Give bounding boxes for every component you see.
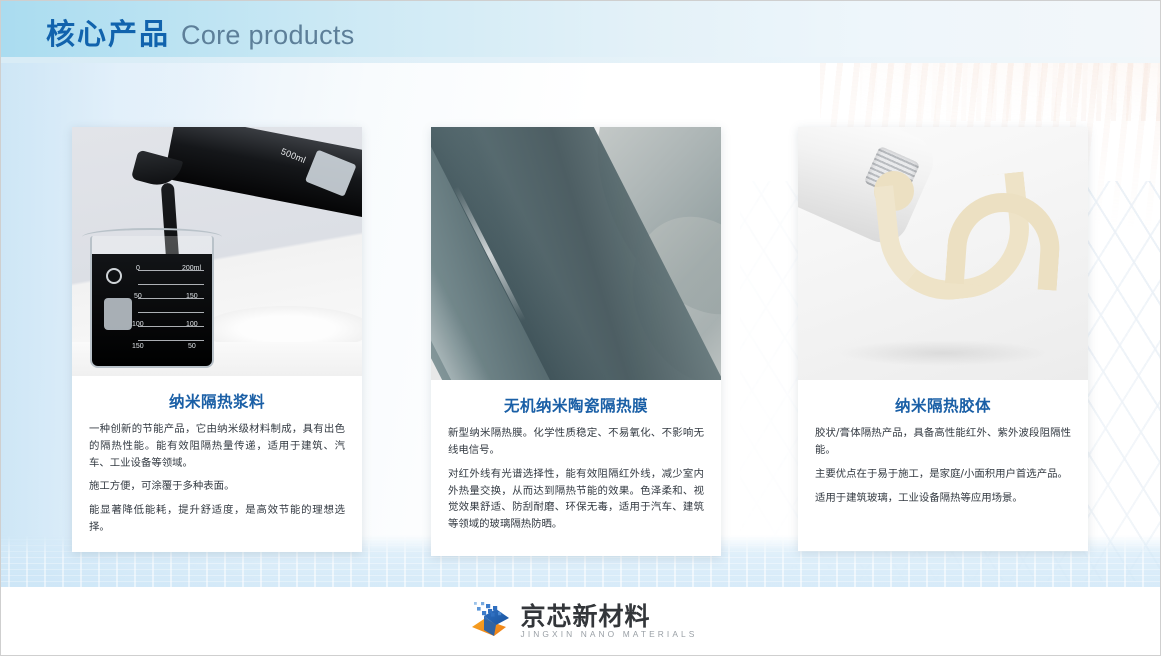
slide: 核心产品 Core products 500ml: [0, 0, 1161, 656]
card-paragraph: 胶状/膏体隔热产品，具备高性能红外、紫外波段阻隔性能。: [815, 425, 1071, 459]
logo-company-name-cn: 京芯新材料: [521, 604, 698, 629]
product-card-ceramic-film[interactable]: 无机纳米陶瓷隔热膜 新型纳米隔热膜。化学性质稳定、不易氧化、不影响无线电信号。 …: [431, 127, 721, 556]
card-body-slurry: 纳米隔热浆料 一种创新的节能产品，它由纳米级材料制成，具有出色的隔热性能。能有效…: [72, 376, 362, 552]
photo-beaker-white-patch: [104, 298, 132, 330]
product-photo-colloid: [798, 127, 1088, 380]
header-title-group: 核心产品 Core products: [1, 11, 355, 53]
card-title-film: 无机纳米陶瓷隔热膜: [448, 394, 704, 416]
card-paragraph: 新型纳米隔热膜。化学性质稳定、不易氧化、不影响无线电信号。: [448, 425, 704, 459]
page-title-cn: 核心产品: [46, 11, 170, 53]
card-paragraph: 主要优点在于易于施工，是家庭/小面积用户首选产品。: [815, 466, 1071, 483]
product-card-list: 500ml 0 200ml 50 150 100: [1, 63, 1161, 589]
photo-bottle: 500ml: [164, 127, 362, 218]
logo-company-name-en: JINGXIN NANO MATERIALS: [521, 630, 698, 638]
product-photo-slurry: 500ml 0 200ml 50 150 100: [72, 127, 362, 376]
card-paragraph: 一种创新的节能产品，它由纳米级材料制成，具有出色的隔热性能。能有效阻隔热量传递，…: [89, 421, 345, 472]
product-card-nano-insulation-slurry[interactable]: 500ml 0 200ml 50 150 100: [72, 127, 362, 552]
product-card-colloid[interactable]: 纳米隔热胶体 胶状/膏体隔热产品，具备高性能红外、紫外波段阻隔性能。 主要优点在…: [798, 127, 1088, 551]
slide-footer: 京芯新材料 JINGXIN NANO MATERIALS: [1, 587, 1161, 655]
company-logo: 京芯新材料 JINGXIN NANO MATERIALS: [466, 600, 698, 642]
photo-beaker-logo-icon: [106, 268, 122, 284]
card-paragraph: 能显著降低能耗，提升舒适度，是高效节能的理想选择。: [89, 502, 345, 536]
product-photo-film: [431, 127, 721, 380]
card-paragraph: 适用于建筑玻璃，工业设备隔热等应用场景。: [815, 490, 1071, 507]
card-paragraph: 对红外线有光谱选择性，能有效阻隔红外线，减少室内外热量交换，从而达到隔热节能的效…: [448, 466, 704, 533]
photo-drop-shadow: [838, 340, 1048, 366]
photo-beaker: 0 200ml 50 150 100 100 150 50: [90, 236, 214, 368]
photo-bottle-label: [305, 150, 357, 197]
slide-header: 核心产品 Core products: [1, 1, 1161, 63]
logo-svg: [466, 600, 510, 642]
card-title-slurry: 纳米隔热浆料: [89, 390, 345, 412]
jingxin-logo-icon: [466, 600, 510, 642]
photo-beaker-rim: [82, 228, 222, 237]
page-title-en: Core products: [181, 20, 354, 51]
card-body-film: 无机纳米陶瓷隔热膜 新型纳米隔热膜。化学性质稳定、不易氧化、不影响无线电信号。 …: [431, 380, 721, 549]
photo-beaker-scale: 0 200ml 50 150 100 100 150 50: [138, 264, 204, 352]
card-title-colloid: 纳米隔热胶体: [815, 394, 1071, 416]
photo-bottle-volume-text: 500ml: [279, 146, 307, 165]
logo-text-block: 京芯新材料 JINGXIN NANO MATERIALS: [521, 604, 698, 638]
card-paragraph: 施工方便，可涂覆于多种表面。: [89, 478, 345, 495]
card-body-colloid: 纳米隔热胶体 胶状/膏体隔热产品，具备高性能红外、紫外波段阻隔性能。 主要优点在…: [798, 380, 1088, 522]
